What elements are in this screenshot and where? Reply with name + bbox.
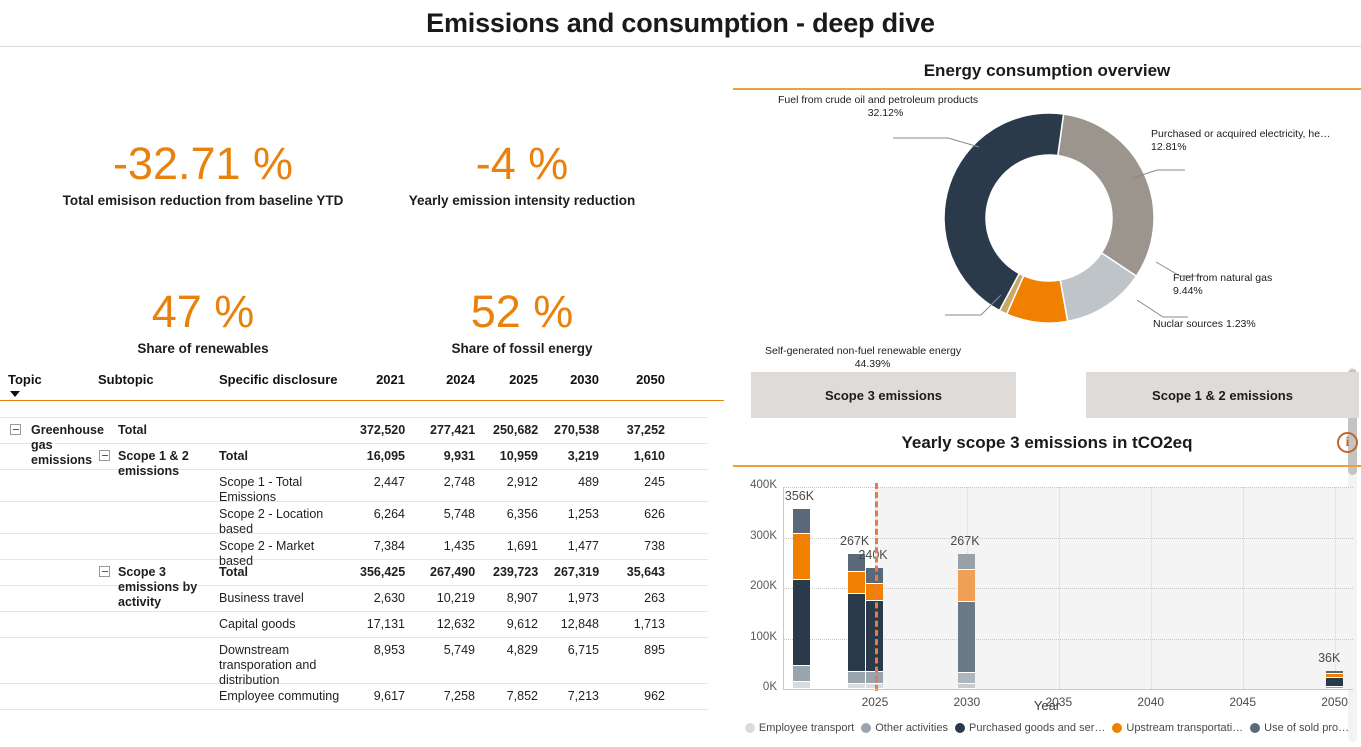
bar-stack-2024[interactable] [848, 487, 865, 689]
x-gridline [1059, 487, 1060, 689]
cell-value-2030: 1,253 [554, 507, 599, 522]
cell-specific-disclosure: Downstream transporation and distributio… [219, 643, 344, 688]
donut-callout-nuclear: Nuclar sources 1.23% [1153, 318, 1333, 331]
cell-specific-disclosure: Total [219, 565, 344, 580]
legend-color-swatch [1250, 723, 1260, 733]
cell-value-2050: 895 [620, 643, 665, 658]
cell-value-2030: 12,848 [554, 617, 599, 632]
cell-value-2050: 1,713 [620, 617, 665, 632]
legend-color-swatch [1112, 723, 1122, 733]
donut-chart[interactable]: Fuel from crude oil and petroleum produc… [733, 90, 1361, 340]
table-row[interactable]: Business travel2,63010,2198,9071,973263 [0, 586, 708, 612]
cell-value-2025: 8,907 [493, 591, 538, 606]
cell-value-2025: 9,612 [493, 617, 538, 632]
kpi-label: Total emisison reduction from baseline Y… [33, 193, 373, 208]
cell-value-2021: 16,095 [360, 449, 405, 464]
table-row[interactable]: Capital goods17,13112,6329,61212,8481,71… [0, 612, 708, 638]
donut-callout-value: 1.23% [1226, 318, 1256, 330]
kpi-label: Share of fossil energy [352, 341, 692, 356]
donut-callout-renewable: Self-generated non-fuel renewable energy… [765, 345, 995, 371]
bar-segment-0[interactable] [793, 682, 810, 689]
cell-value-2025: 6,356 [493, 507, 538, 522]
kpi-share-of-renewables: 47 % Share of renewables [33, 287, 373, 356]
legend-color-swatch [745, 723, 755, 733]
donut-callout-label: Self-generated non-fuel renewable energy [765, 345, 995, 358]
cell-value-2030: 6,715 [554, 643, 599, 658]
y-axis-tick-label: 200K [733, 580, 777, 592]
cell-value-2025: 10,959 [493, 449, 538, 464]
cell-value-2025: 7,852 [493, 689, 538, 704]
column-header-2025[interactable]: 2025 [493, 372, 538, 387]
bar-segment-1[interactable] [793, 666, 810, 682]
legend-item[interactable]: Upstream transportati… [1112, 722, 1243, 734]
legend-item[interactable]: Other activities [861, 722, 948, 734]
matrix-body: Greenhouse gas emissionsTotal372,520277,… [0, 401, 716, 710]
y-axis-line [783, 487, 784, 689]
cell-value-2030: 489 [554, 475, 599, 490]
cell-value-2021: 2,630 [360, 591, 405, 606]
kpi-value: 52 % [352, 287, 692, 337]
page-header: Emissions and consumption - deep dive [0, 0, 1361, 47]
cell-value-2050: 263 [620, 591, 665, 606]
cell-value-2024: 12,632 [430, 617, 475, 632]
cell-value-2021: 8,953 [360, 643, 405, 658]
disclosure-matrix[interactable]: Topic Subtopic Specific disclosure 2021 … [0, 363, 724, 747]
column-header-subtopic[interactable]: Subtopic [98, 372, 154, 387]
legend-label: Purchased goods and ser… [969, 722, 1105, 734]
legend-color-swatch [955, 723, 965, 733]
x-gridline [1151, 487, 1152, 689]
tab-scope-1-2-emissions[interactable]: Scope 1 & 2 emissions [1086, 372, 1359, 418]
yearly-scope3-panel: Yearly scope 3 emissions in tCO2eq i 0K1… [733, 430, 1361, 747]
bar-data-label: 356K [785, 489, 814, 503]
chart-legend: Employee transportOther activitiesPurcha… [733, 722, 1361, 734]
cell-value-2021: 356,425 [360, 565, 405, 580]
column-header-topic[interactable]: Topic [8, 372, 42, 387]
dashboard-page: Emissions and consumption - deep dive -3… [0, 0, 1361, 747]
info-icon[interactable]: i [1337, 432, 1358, 453]
cell-value-2050: 35,643 [620, 565, 665, 580]
bar-segment-3[interactable] [958, 570, 975, 602]
cell-value-2021: 9,617 [360, 689, 405, 704]
cell-value-2024: 9,931 [430, 449, 475, 464]
legend-item[interactable]: Purchased goods and ser… [955, 722, 1105, 734]
x-axis-title: Year [733, 698, 1361, 713]
donut-slice[interactable] [1058, 114, 1154, 276]
cell-value-2030: 7,213 [554, 689, 599, 704]
cell-value-2024: 5,749 [430, 643, 475, 658]
cell-value-2025: 1,691 [493, 539, 538, 554]
column-header-2030[interactable]: 2030 [554, 372, 599, 387]
bar-data-label: 36K [1318, 651, 1340, 665]
donut-callout-label: Fuel from crude oil and petroleum produc… [778, 94, 1008, 107]
sort-descending-icon[interactable] [10, 391, 20, 397]
bar-data-label: 267K [950, 534, 979, 548]
cell-value-2021: 2,447 [360, 475, 405, 490]
cell-value-2050: 626 [620, 507, 665, 522]
kpi-yearly-emission-intensity-reduction: -4 % Yearly emission intensity reduction [352, 139, 692, 208]
column-header-2050[interactable]: 2050 [620, 372, 665, 387]
cell-specific-disclosure: Total [219, 449, 344, 464]
cell-value-2050: 1,610 [620, 449, 665, 464]
cell-specific-disclosure: Scope 2 - Location based [219, 507, 344, 537]
cell-value-2024: 5,748 [430, 507, 475, 522]
legend-item[interactable]: Employee transport [745, 722, 854, 734]
cell-value-2024: 7,258 [430, 689, 475, 704]
cell-value-2050: 37,252 [620, 423, 665, 438]
kpi-total-emission-reduction: -32.71 % Total emisison reduction from b… [33, 139, 373, 208]
matrix-header-row: Topic Subtopic Specific disclosure 2021 … [0, 363, 724, 401]
kpi-value: 47 % [33, 287, 373, 337]
table-row[interactable]: Scope 1 - Total Emissions2,4472,7482,912… [0, 470, 708, 502]
y-axis-tick-label: 300K [733, 530, 777, 542]
cell-value-2030: 3,219 [554, 449, 599, 464]
table-row[interactable]: Downstream transporation and distributio… [0, 638, 708, 684]
column-header-2021[interactable]: 2021 [360, 372, 405, 387]
panel-divider [733, 465, 1361, 467]
kpi-value: -32.71 % [33, 139, 373, 189]
legend-color-swatch [861, 723, 871, 733]
cell-value-2050: 962 [620, 689, 665, 704]
cell-value-2025: 4,829 [493, 643, 538, 658]
cell-value-2025: 2,912 [493, 475, 538, 490]
right-column: Energy consumption overview Fuel from cr… [724, 47, 1361, 747]
tab-scope-3-emissions[interactable]: Scope 3 emissions [751, 372, 1016, 418]
column-header-disclosure[interactable]: Specific disclosure [219, 372, 338, 387]
column-header-2024[interactable]: 2024 [430, 372, 475, 387]
table-row[interactable]: Scope 1 & 2 emissionsTotal16,0959,93110,… [0, 444, 708, 470]
cell-value-2021: 7,384 [360, 539, 405, 554]
donut-callout-natural-gas: Fuel from natural gas 9.44% [1173, 272, 1333, 298]
kpi-label: Yearly emission intensity reduction [352, 193, 692, 208]
y-axis-tick-label: 400K [733, 479, 777, 491]
legend-label: Use of sold pro… [1264, 722, 1349, 734]
cell-specific-disclosure: Scope 1 - Total Emissions [219, 475, 344, 505]
donut-callout-label: Purchased or acquired electricity, he… [1151, 128, 1361, 141]
donut-callout-value: 12.81% [1151, 141, 1361, 154]
x-axis-line [783, 689, 1353, 690]
table-row[interactable]: Greenhouse gas emissionsTotal372,520277,… [0, 418, 708, 444]
bar-segment-3[interactable] [848, 572, 865, 593]
donut-leader-line [1137, 300, 1188, 317]
page-title: Emissions and consumption - deep dive [426, 8, 935, 39]
bar-segment-4[interactable] [1326, 671, 1343, 674]
donut-callout-value: 9.44% [1173, 285, 1333, 298]
kpi-area: -32.71 % Total emisison reduction from b… [0, 47, 724, 360]
cell-value-2030: 1,973 [554, 591, 599, 606]
bar-data-label: 267K [840, 534, 869, 548]
bar-segment-1[interactable] [958, 673, 975, 685]
expander-subtopic-icon[interactable] [99, 566, 110, 577]
bar-segment-2[interactable] [793, 580, 810, 666]
cell-value-2030: 1,477 [554, 539, 599, 554]
bar-segment-2[interactable] [958, 602, 975, 673]
bar-stack-2021[interactable] [793, 487, 810, 689]
bar-chart-header: Yearly scope 3 emissions in tCO2eq i [733, 430, 1361, 458]
donut-callout-value: 44.39% [765, 358, 980, 371]
table-row[interactable]: Scope 2 - Market based7,3841,4351,6911,4… [0, 534, 708, 560]
donut-callout-value: 32.12% [778, 107, 993, 120]
kpi-share-of-fossil-energy: 52 % Share of fossil energy [352, 287, 692, 356]
kpi-label: Share of renewables [33, 341, 373, 356]
expander-topic-icon[interactable] [10, 424, 21, 435]
donut-callout-label: Nuclar sources [1153, 318, 1223, 330]
y-axis-tick-label: 100K [733, 631, 777, 643]
legend-label: Employee transport [759, 722, 854, 734]
cell-specific-disclosure: Employee commuting [219, 689, 344, 704]
cell-value-2024: 10,219 [430, 591, 475, 606]
cell-specific-disclosure: Business travel [219, 591, 344, 606]
expander-subtopic-icon[interactable] [99, 450, 110, 461]
cell-value-2025: 250,682 [493, 423, 538, 438]
y-axis-tick-label: 0K [733, 681, 777, 693]
legend-item[interactable]: Use of sold pro… [1250, 722, 1349, 734]
cell-value-2021: 372,520 [360, 423, 405, 438]
donut-leader-line [893, 138, 979, 147]
donut-callout-label: Fuel from natural gas [1173, 272, 1333, 285]
cell-value-2050: 738 [620, 539, 665, 554]
bar-segment-3[interactable] [1326, 674, 1343, 678]
cell-value-2024: 277,421 [430, 423, 475, 438]
bar-segment-4[interactable] [958, 554, 975, 570]
cell-value-2024: 1,435 [430, 539, 475, 554]
cell-value-2021: 6,264 [360, 507, 405, 522]
cell-specific-disclosure: Capital goods [219, 617, 344, 632]
donut-chart-title: Energy consumption overview [733, 61, 1361, 81]
kpi-value: -4 % [352, 139, 692, 189]
donut-callout-purchased-electricity: Purchased or acquired electricity, he… 1… [1151, 128, 1361, 154]
x-gridline [1243, 487, 1244, 689]
cell-value-2030: 270,538 [554, 423, 599, 438]
current-year-marker [875, 483, 878, 691]
bar-segment-2[interactable] [848, 594, 865, 672]
table-row[interactable]: Employee commuting9,6177,2587,8527,21396… [0, 684, 708, 710]
cell-value-2025: 239,723 [493, 565, 538, 580]
matrix-spacer-row [0, 401, 708, 418]
bar-chart-title: Yearly scope 3 emissions in tCO2eq [733, 430, 1361, 456]
cell-value-2030: 267,319 [554, 565, 599, 580]
table-row[interactable]: Scope 2 - Location based6,2645,7486,3561… [0, 502, 708, 534]
cell-value-2050: 245 [620, 475, 665, 490]
cell-value-2021: 17,131 [360, 617, 405, 632]
bar-stack-2030[interactable] [958, 487, 975, 689]
cell-specific-disclosure: Total [118, 423, 213, 438]
donut-callout-crude-oil: Fuel from crude oil and petroleum produc… [778, 94, 1008, 120]
bar-segment-2[interactable] [1326, 678, 1343, 687]
bar-chart-plot[interactable]: 0K100K200K300K400K2025203020352040204520… [733, 475, 1361, 723]
bar-segment-1[interactable] [848, 672, 865, 684]
energy-consumption-panel: Energy consumption overview Fuel from cr… [733, 61, 1361, 361]
table-row[interactable]: Scope 3 emissions by activityTotal356,42… [0, 560, 708, 586]
cell-value-2024: 2,748 [430, 475, 475, 490]
legend-label: Other activities [875, 722, 948, 734]
bar-segment-3[interactable] [793, 534, 810, 579]
bar-segment-4[interactable] [793, 509, 810, 534]
bar-data-label: 240K [858, 548, 887, 562]
cell-value-2024: 267,490 [430, 565, 475, 580]
legend-label: Upstream transportati… [1126, 722, 1243, 734]
scope-tab-group: Scope 3 emissions Scope 1 & 2 emissions [751, 372, 1351, 418]
